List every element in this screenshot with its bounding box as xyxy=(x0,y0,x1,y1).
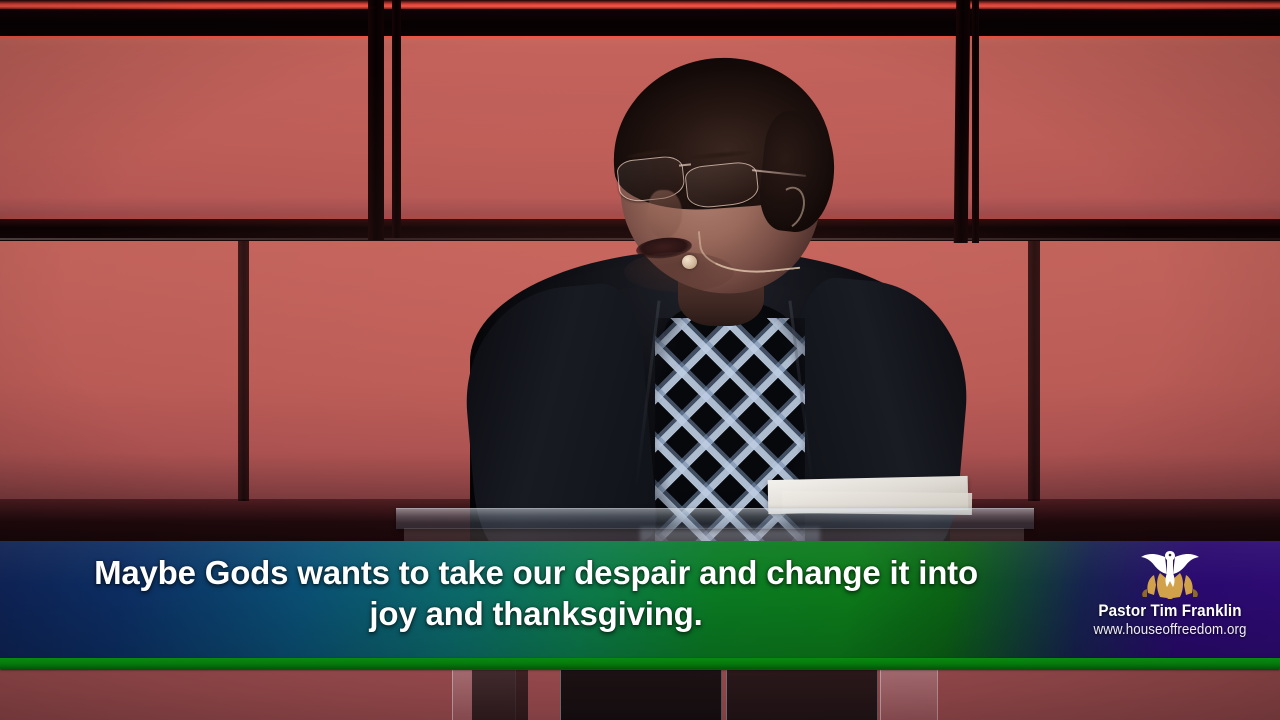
podium-panel-4 xyxy=(880,670,938,720)
banner-bottom-rule xyxy=(0,658,1280,669)
caption-line-1: Maybe Gods wants to take our despair and… xyxy=(16,552,1056,593)
eyeglass-lens-right xyxy=(684,160,760,209)
podium-panel-shadow xyxy=(472,670,528,720)
pastor-name-label: Pastor Tim Franklin xyxy=(1076,602,1264,621)
ministry-website-label[interactable]: www.houseoffreedom.org xyxy=(1076,622,1264,638)
podium-surface xyxy=(396,508,1034,529)
eyeglass-bridge xyxy=(679,163,691,166)
eyeglasses-icon xyxy=(616,158,796,208)
podium-panel-3 xyxy=(726,670,878,720)
dove-over-hands-logo-icon xyxy=(1134,545,1206,601)
ministry-logo-block[interactable]: Pastor Tim Franklin www.houseoffreedom.o… xyxy=(1068,543,1272,655)
headset-mic-capsule-icon xyxy=(682,255,697,269)
video-frame: Maybe Gods wants to take our despair and… xyxy=(0,0,1280,720)
caption-line-2: joy and thanksgiving. xyxy=(16,593,1056,634)
caption-text-block: Maybe Gods wants to take our despair and… xyxy=(16,552,1056,634)
podium-panel-2 xyxy=(560,670,722,720)
